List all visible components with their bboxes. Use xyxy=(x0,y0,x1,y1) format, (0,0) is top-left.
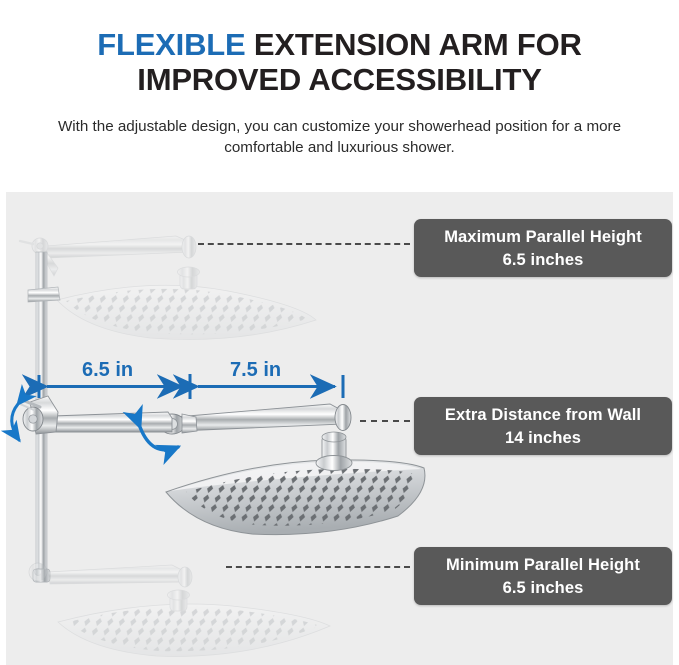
leader-line-extra xyxy=(360,420,410,422)
callout-min-title: Minimum Parallel Height xyxy=(424,554,662,577)
dimension-label-segment-b: 7.5 in xyxy=(230,358,281,382)
header-section: FLEXIBLE EXTENSION ARM FOR IMPROVED ACCE… xyxy=(0,0,679,192)
title-line-2: IMPROVED ACCESSIBILITY xyxy=(137,62,541,97)
callout-extra-title: Extra Distance from Wall xyxy=(424,404,662,427)
callout-maximum-parallel-height: Maximum Parallel Height 6.5 inches xyxy=(414,219,672,277)
callout-extra-value: 14 inches xyxy=(424,427,662,450)
leader-line-min xyxy=(226,566,410,568)
dimension-label-segment-a: 6.5 in xyxy=(82,358,133,382)
callout-minimum-parallel-height: Minimum Parallel Height 6.5 inches xyxy=(414,547,672,605)
subtitle-line-1: With the adjustable design, you can cust… xyxy=(58,118,491,135)
title-accent-word: FLEXIBLE xyxy=(97,27,245,62)
callout-max-value: 6.5 inches xyxy=(424,249,662,272)
callout-extra-distance-from-wall: Extra Distance from Wall 14 inches xyxy=(414,397,672,455)
title-rest: EXTENSION ARM FOR xyxy=(245,27,581,62)
page-title: FLEXIBLE EXTENSION ARM FOR IMPROVED ACCE… xyxy=(0,27,679,97)
leader-line-max xyxy=(198,243,410,245)
page-subtitle: With the adjustable design, you can cust… xyxy=(0,116,679,158)
callout-max-title: Maximum Parallel Height xyxy=(424,226,662,249)
infographic-root: FLEXIBLE EXTENSION ARM FOR IMPROVED ACCE… xyxy=(0,0,679,665)
callout-min-value: 6.5 inches xyxy=(424,577,662,600)
